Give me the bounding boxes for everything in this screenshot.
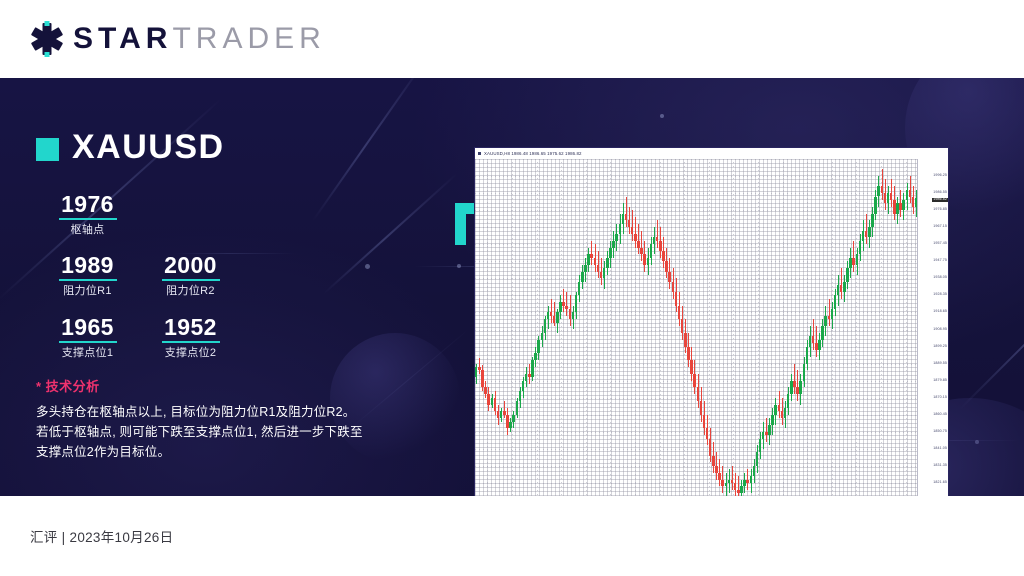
candle-body xyxy=(753,466,755,476)
candlestick-series xyxy=(475,159,918,496)
symbol-marker-icon xyxy=(36,138,59,161)
candle-body xyxy=(500,411,502,418)
decorative-dot xyxy=(660,114,664,118)
brand-name-light: TRADER xyxy=(172,22,325,55)
analysis-line-2: 若低于枢轴点, 则可能下跌至支撑点位1, 然后进一步下跌至 xyxy=(36,422,386,442)
candle-body xyxy=(678,306,680,320)
candle-wick xyxy=(794,364,795,395)
level-value: 1952 xyxy=(139,315,242,339)
candle-wick xyxy=(563,289,564,313)
pivot-levels: 1976 枢轴点 1989 阻力位R1 2000 阻力位R2 xyxy=(36,192,436,360)
candle-body xyxy=(534,353,536,360)
price-axis-label: 1986.55 xyxy=(933,191,947,195)
level-row-pivot: 1976 枢轴点 xyxy=(36,192,436,237)
candle-wick xyxy=(841,268,842,299)
candle-body xyxy=(528,374,530,377)
footer-caption: 汇评 | 2023年10月26日 xyxy=(30,526,173,546)
candle-body xyxy=(647,258,649,265)
candle-body xyxy=(737,490,739,493)
left-content-column: XAUUSD 1976 枢轴点 1989 阻力位R1 2000 xyxy=(36,130,436,463)
candle-body xyxy=(912,197,914,207)
candle-body xyxy=(565,306,567,309)
price-axis-label: 1947.75 xyxy=(933,259,947,263)
candle-body xyxy=(572,312,574,319)
price-axis-label: 1928.35 xyxy=(933,293,947,297)
candle-body xyxy=(578,282,580,296)
chart-titlebar: XAUUSD,H8 1986.48 1986.65 1975.62 1986.8… xyxy=(475,148,948,159)
candle-body xyxy=(784,408,786,418)
candle-body xyxy=(693,374,695,388)
candle-wick xyxy=(797,370,798,401)
candle-body xyxy=(896,203,898,213)
level-label: 支撑点位2 xyxy=(139,347,242,360)
candle-body xyxy=(815,343,817,350)
level-label: 阻力位R1 xyxy=(36,285,139,298)
candle-body xyxy=(796,387,798,394)
candle-body xyxy=(818,340,820,350)
candle-body xyxy=(890,193,892,200)
candle-body xyxy=(556,312,558,322)
asterisk-logo-icon xyxy=(30,22,64,56)
candle-body xyxy=(612,241,614,248)
candle-body xyxy=(487,394,489,404)
price-axis-label: 1976.85 xyxy=(933,208,947,212)
candle-body xyxy=(665,261,667,271)
candle-body xyxy=(606,258,608,268)
candle-body xyxy=(625,214,627,221)
level-row-support: 1965 支撑点位1 1952 支撑点位2 xyxy=(36,315,436,360)
candle-body xyxy=(491,398,493,405)
price-axis-label: 1870.15 xyxy=(933,396,947,400)
current-price-label: 1986.82 xyxy=(932,198,948,202)
candle-body xyxy=(525,374,527,381)
candle-wick xyxy=(504,401,505,418)
candle-body xyxy=(656,237,658,240)
candle-body xyxy=(650,244,652,258)
price-axis-label: 1899.25 xyxy=(933,345,947,349)
candle-body xyxy=(709,439,711,456)
candle-body xyxy=(512,415,514,422)
candle-body xyxy=(712,456,714,466)
candle-body xyxy=(843,282,845,292)
candle-wick xyxy=(866,214,867,245)
candle-body xyxy=(544,319,546,333)
candle-body xyxy=(700,401,702,415)
candle-body xyxy=(519,391,521,401)
candle-body xyxy=(637,241,639,248)
chart-title: XAUUSD,H8 1986.48 1986.65 1975.62 1986.8… xyxy=(484,151,582,156)
price-axis-label: 1850.75 xyxy=(933,430,947,434)
candle-body xyxy=(584,265,586,272)
candle-body xyxy=(569,309,571,319)
candle-body xyxy=(837,285,839,295)
candle-body xyxy=(756,452,758,466)
candle-body xyxy=(718,473,720,480)
candle-body xyxy=(740,486,742,493)
price-axis-label: 1996.25 xyxy=(933,174,947,178)
level-underline xyxy=(59,279,117,281)
level-support-1: 1965 支撑点位1 xyxy=(36,315,139,360)
candle-body xyxy=(790,381,792,395)
candle-body xyxy=(787,394,789,408)
candle-body xyxy=(628,220,630,227)
candle-wick xyxy=(813,319,814,350)
candle-body xyxy=(846,268,848,282)
candle-body xyxy=(503,411,505,414)
price-axis-label: 1957.45 xyxy=(933,242,947,246)
brand-logo: STARTRADER xyxy=(30,22,326,56)
candle-body xyxy=(877,186,879,196)
candle-body xyxy=(871,214,873,228)
candle-body xyxy=(537,340,539,354)
candle-body xyxy=(687,347,689,361)
candle-body xyxy=(731,480,733,483)
candle-body xyxy=(781,411,783,418)
level-resistance-1: 1989 阻力位R1 xyxy=(36,253,139,298)
candle-body xyxy=(590,254,592,257)
analysis-body: 多头持仓在枢轴点以上, 目标位为阻力位R1及阻力位R2。 若低于枢轴点, 则可能… xyxy=(36,402,386,463)
candle-body xyxy=(562,302,564,305)
candle-body xyxy=(672,282,674,292)
analysis-line-1: 多头持仓在枢轴点以上, 目标位为阻力位R1及阻力位R2。 xyxy=(36,402,386,422)
candle-body xyxy=(603,268,605,278)
candle-body xyxy=(475,367,477,377)
candle-body xyxy=(522,381,524,391)
candle-body xyxy=(750,476,752,483)
candle-body xyxy=(575,295,577,312)
candle-body xyxy=(812,336,814,343)
candle-body xyxy=(803,364,805,381)
candle-body xyxy=(675,292,677,306)
decorative-dot xyxy=(457,264,461,268)
candle-body xyxy=(828,316,830,319)
candle-body xyxy=(762,432,764,439)
candle-body xyxy=(640,248,642,255)
candle-body xyxy=(728,480,730,483)
candle-body xyxy=(631,227,633,234)
candle-body xyxy=(824,316,826,326)
candle-body xyxy=(743,480,745,487)
candle-body xyxy=(831,309,833,319)
price-axis-label: 1831.35 xyxy=(933,464,947,468)
level-label: 阻力位R2 xyxy=(139,285,242,298)
brand-name-bold: STAR xyxy=(73,22,172,55)
price-axis-label: 1938.05 xyxy=(933,276,947,280)
candle-body xyxy=(600,272,602,279)
candle-body xyxy=(721,480,723,487)
candle-wick xyxy=(829,299,830,326)
candle-body xyxy=(681,319,683,333)
brand-wordmark: STARTRADER xyxy=(73,24,326,54)
candle-body xyxy=(497,411,499,418)
candle-body xyxy=(609,248,611,258)
price-axis-label: 2005.95 xyxy=(933,159,947,161)
price-axis-label: 1879.85 xyxy=(933,379,947,383)
candle-body xyxy=(881,186,883,193)
candle-body xyxy=(909,190,911,197)
candle-body xyxy=(856,254,858,264)
candle-wick xyxy=(882,169,883,200)
candle-body xyxy=(587,254,589,264)
level-value: 1989 xyxy=(36,253,139,277)
candle-wick xyxy=(635,217,636,248)
candle-wick xyxy=(626,197,627,228)
candle-body xyxy=(715,466,717,473)
technical-analysis: * 技术分析 多头持仓在枢轴点以上, 目标位为阻力位R1及阻力位R2。 若低于枢… xyxy=(36,376,436,463)
level-label: 支撑点位1 xyxy=(36,347,139,360)
candle-body xyxy=(874,197,876,214)
candle-wick xyxy=(638,224,639,255)
analysis-line-3: 支撑点位2作为目标位。 xyxy=(36,442,386,462)
level-underline xyxy=(162,341,220,343)
level-underline xyxy=(59,218,117,220)
level-row-resistance: 1989 阻力位R1 2000 阻力位R2 xyxy=(36,253,436,298)
analysis-title: * 技术分析 xyxy=(36,376,436,395)
candle-body xyxy=(622,214,624,224)
candle-body xyxy=(484,387,486,394)
candle-body xyxy=(559,302,561,312)
level-value: 2000 xyxy=(139,253,242,277)
candle-body xyxy=(690,360,692,374)
candle-body xyxy=(759,439,761,453)
candle-body xyxy=(725,483,727,486)
candle-body xyxy=(653,237,655,244)
candle-body xyxy=(662,251,664,261)
candle-wick xyxy=(641,231,642,262)
candle-body xyxy=(594,258,596,265)
candle-wick xyxy=(766,418,767,442)
page-header: STARTRADER xyxy=(0,0,1024,78)
candle-body xyxy=(509,422,511,429)
candle-body xyxy=(706,428,708,438)
candle-body xyxy=(481,370,483,387)
candle-body xyxy=(887,193,889,203)
candle-body xyxy=(774,405,776,415)
price-chart[interactable]: XAUUSD,H8 1986.48 1986.65 1975.62 1986.8… xyxy=(474,147,949,496)
candle-body xyxy=(906,190,908,200)
candle-body xyxy=(806,347,808,364)
candle-body xyxy=(541,333,543,340)
candle-body xyxy=(821,326,823,340)
price-axis-label: 1967.15 xyxy=(933,225,947,229)
level-value: 1976 xyxy=(36,192,139,216)
candle-body xyxy=(703,415,705,429)
candle-wick xyxy=(816,326,817,357)
candle-wick xyxy=(591,241,592,265)
candle-body xyxy=(494,398,496,412)
candle-body xyxy=(902,200,904,210)
candle-body xyxy=(659,241,661,251)
candle-body xyxy=(581,272,583,282)
candle-body xyxy=(634,234,636,241)
candle-body xyxy=(840,285,842,292)
level-label: 枢轴点 xyxy=(36,224,139,237)
page-footer: 汇评 | 2023年10月26日 xyxy=(0,496,1024,576)
candle-body xyxy=(893,200,895,214)
candle-body xyxy=(553,316,555,323)
candle-body xyxy=(516,401,518,415)
candle-body xyxy=(862,231,864,241)
candle-body xyxy=(859,241,861,255)
price-axis: 2005.951996.251986.551976.851967.151957.… xyxy=(917,159,948,496)
candle-wick xyxy=(657,220,658,247)
price-axis-label: 1889.55 xyxy=(933,362,947,366)
candle-body xyxy=(852,258,854,265)
candle-body xyxy=(799,381,801,395)
candle-body xyxy=(697,387,699,401)
candle-body xyxy=(834,295,836,309)
price-axis-label: 1908.95 xyxy=(933,328,947,332)
candle-wick xyxy=(632,210,633,241)
symbol-heading: XAUUSD xyxy=(36,130,436,164)
level-resistance-2: 2000 阻力位R2 xyxy=(139,253,242,298)
candle-body xyxy=(550,312,552,315)
level-value: 1965 xyxy=(36,315,139,339)
candle-body xyxy=(746,480,748,483)
candle-body xyxy=(619,224,621,234)
candle-body xyxy=(734,483,736,490)
candle-body xyxy=(547,312,549,319)
price-axis-label: 1918.65 xyxy=(933,310,947,314)
candle-body xyxy=(771,415,773,425)
candle-wick xyxy=(566,292,567,316)
candle-body xyxy=(643,254,645,264)
candle-body xyxy=(531,360,533,377)
candle-body xyxy=(615,234,617,241)
price-axis-label: 1860.45 xyxy=(933,413,947,417)
candle-body xyxy=(684,333,686,347)
price-axis-label: 1821.65 xyxy=(933,481,947,485)
level-underline xyxy=(162,279,220,281)
candle-body xyxy=(478,367,480,370)
candle-body xyxy=(778,405,780,412)
candle-body xyxy=(884,193,886,203)
candle-body xyxy=(668,272,670,282)
candle-body xyxy=(849,258,851,268)
candle-body xyxy=(793,381,795,388)
level-underline xyxy=(59,341,117,343)
chart-marker-icon xyxy=(478,152,481,155)
candle-body xyxy=(865,231,867,238)
candle-wick xyxy=(732,466,733,490)
main-panel: XAUUSD 1976 枢轴点 1989 阻力位R1 2000 xyxy=(0,78,1024,496)
candle-body xyxy=(809,336,811,346)
chart-plot-area[interactable] xyxy=(475,159,918,496)
candle-body xyxy=(597,265,599,272)
candle-body xyxy=(868,227,870,237)
page-title: XAUUSD xyxy=(72,130,225,164)
candle-wick xyxy=(853,241,854,272)
candle-body xyxy=(899,203,901,210)
candle-wick xyxy=(551,299,552,323)
level-support-2: 1952 支撑点位2 xyxy=(139,315,242,360)
candle-body xyxy=(768,425,770,435)
candle-body xyxy=(506,415,508,429)
candle-body xyxy=(765,432,767,435)
price-axis-label: 1841.05 xyxy=(933,447,947,451)
level-pivot: 1976 枢轴点 xyxy=(36,192,139,237)
